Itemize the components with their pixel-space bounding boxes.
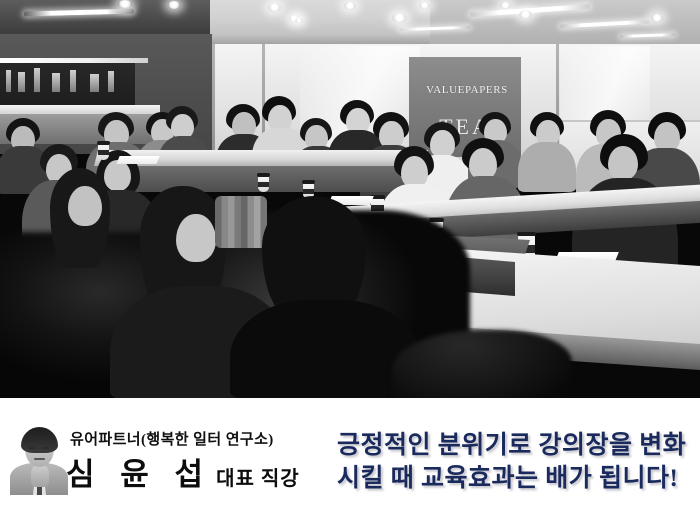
downlight <box>500 2 511 9</box>
poster-title: VALUEPAPERS <box>415 84 519 96</box>
caption-bar: 유어파트너(행복한 일터 연구소) 심 윤 섭 대표 직강 긍정적인 분위기로 … <box>0 398 700 525</box>
paper-sheet <box>116 156 159 164</box>
speaker-name-row: 심 윤 섭 대표 직강 <box>66 449 300 494</box>
shelf-light <box>0 58 148 63</box>
pixelated-face-icon <box>215 196 267 248</box>
downlight <box>268 3 281 12</box>
downlight <box>344 2 356 10</box>
downlight <box>295 18 303 23</box>
shelf-object <box>18 72 25 92</box>
portrait-hands <box>31 465 49 487</box>
slogan-line-1: 긍정적인 분위기로 강의장을 변화 <box>337 429 686 462</box>
promo-banner: VALUEPAPERS TEA <box>0 0 700 525</box>
shelf-object <box>34 68 40 92</box>
shelf-object <box>108 71 114 92</box>
shelf-object <box>52 73 60 92</box>
portrait-eye-left <box>29 447 35 449</box>
downlight <box>118 0 132 8</box>
speaker-name: 심 윤 섭 <box>66 449 212 494</box>
downlight <box>392 13 407 23</box>
downlight <box>168 1 180 9</box>
speaker-role: 대표 직강 <box>216 462 300 491</box>
organization-name: 유어파트너(행복한 일터 연구소) <box>70 428 274 449</box>
seminar-photo: VALUEPAPERS TEA <box>0 0 700 398</box>
portrait-mouth <box>34 458 45 460</box>
downlight <box>519 10 532 19</box>
portrait-hair <box>21 427 58 453</box>
slogan: 긍정적인 분위기로 강의장을 변화 시킬 때 교육효과는 배가 됩니다! <box>337 429 686 495</box>
shelf-object <box>70 70 76 92</box>
wall-mullion <box>212 44 215 162</box>
slogan-line-2: 시킬 때 교육효과는 배가 됩니다! <box>337 462 686 495</box>
shelf-object <box>6 70 11 92</box>
counter-top <box>0 105 160 114</box>
shelf-object <box>90 74 99 92</box>
foreground-shoulder <box>392 330 572 398</box>
coffee-cup <box>98 144 109 160</box>
downlight <box>419 2 430 9</box>
speaker-portrait-avatar <box>8 425 70 495</box>
coffee-cup <box>258 176 269 192</box>
portrait-eye-right <box>43 447 49 449</box>
downlight <box>651 14 663 22</box>
